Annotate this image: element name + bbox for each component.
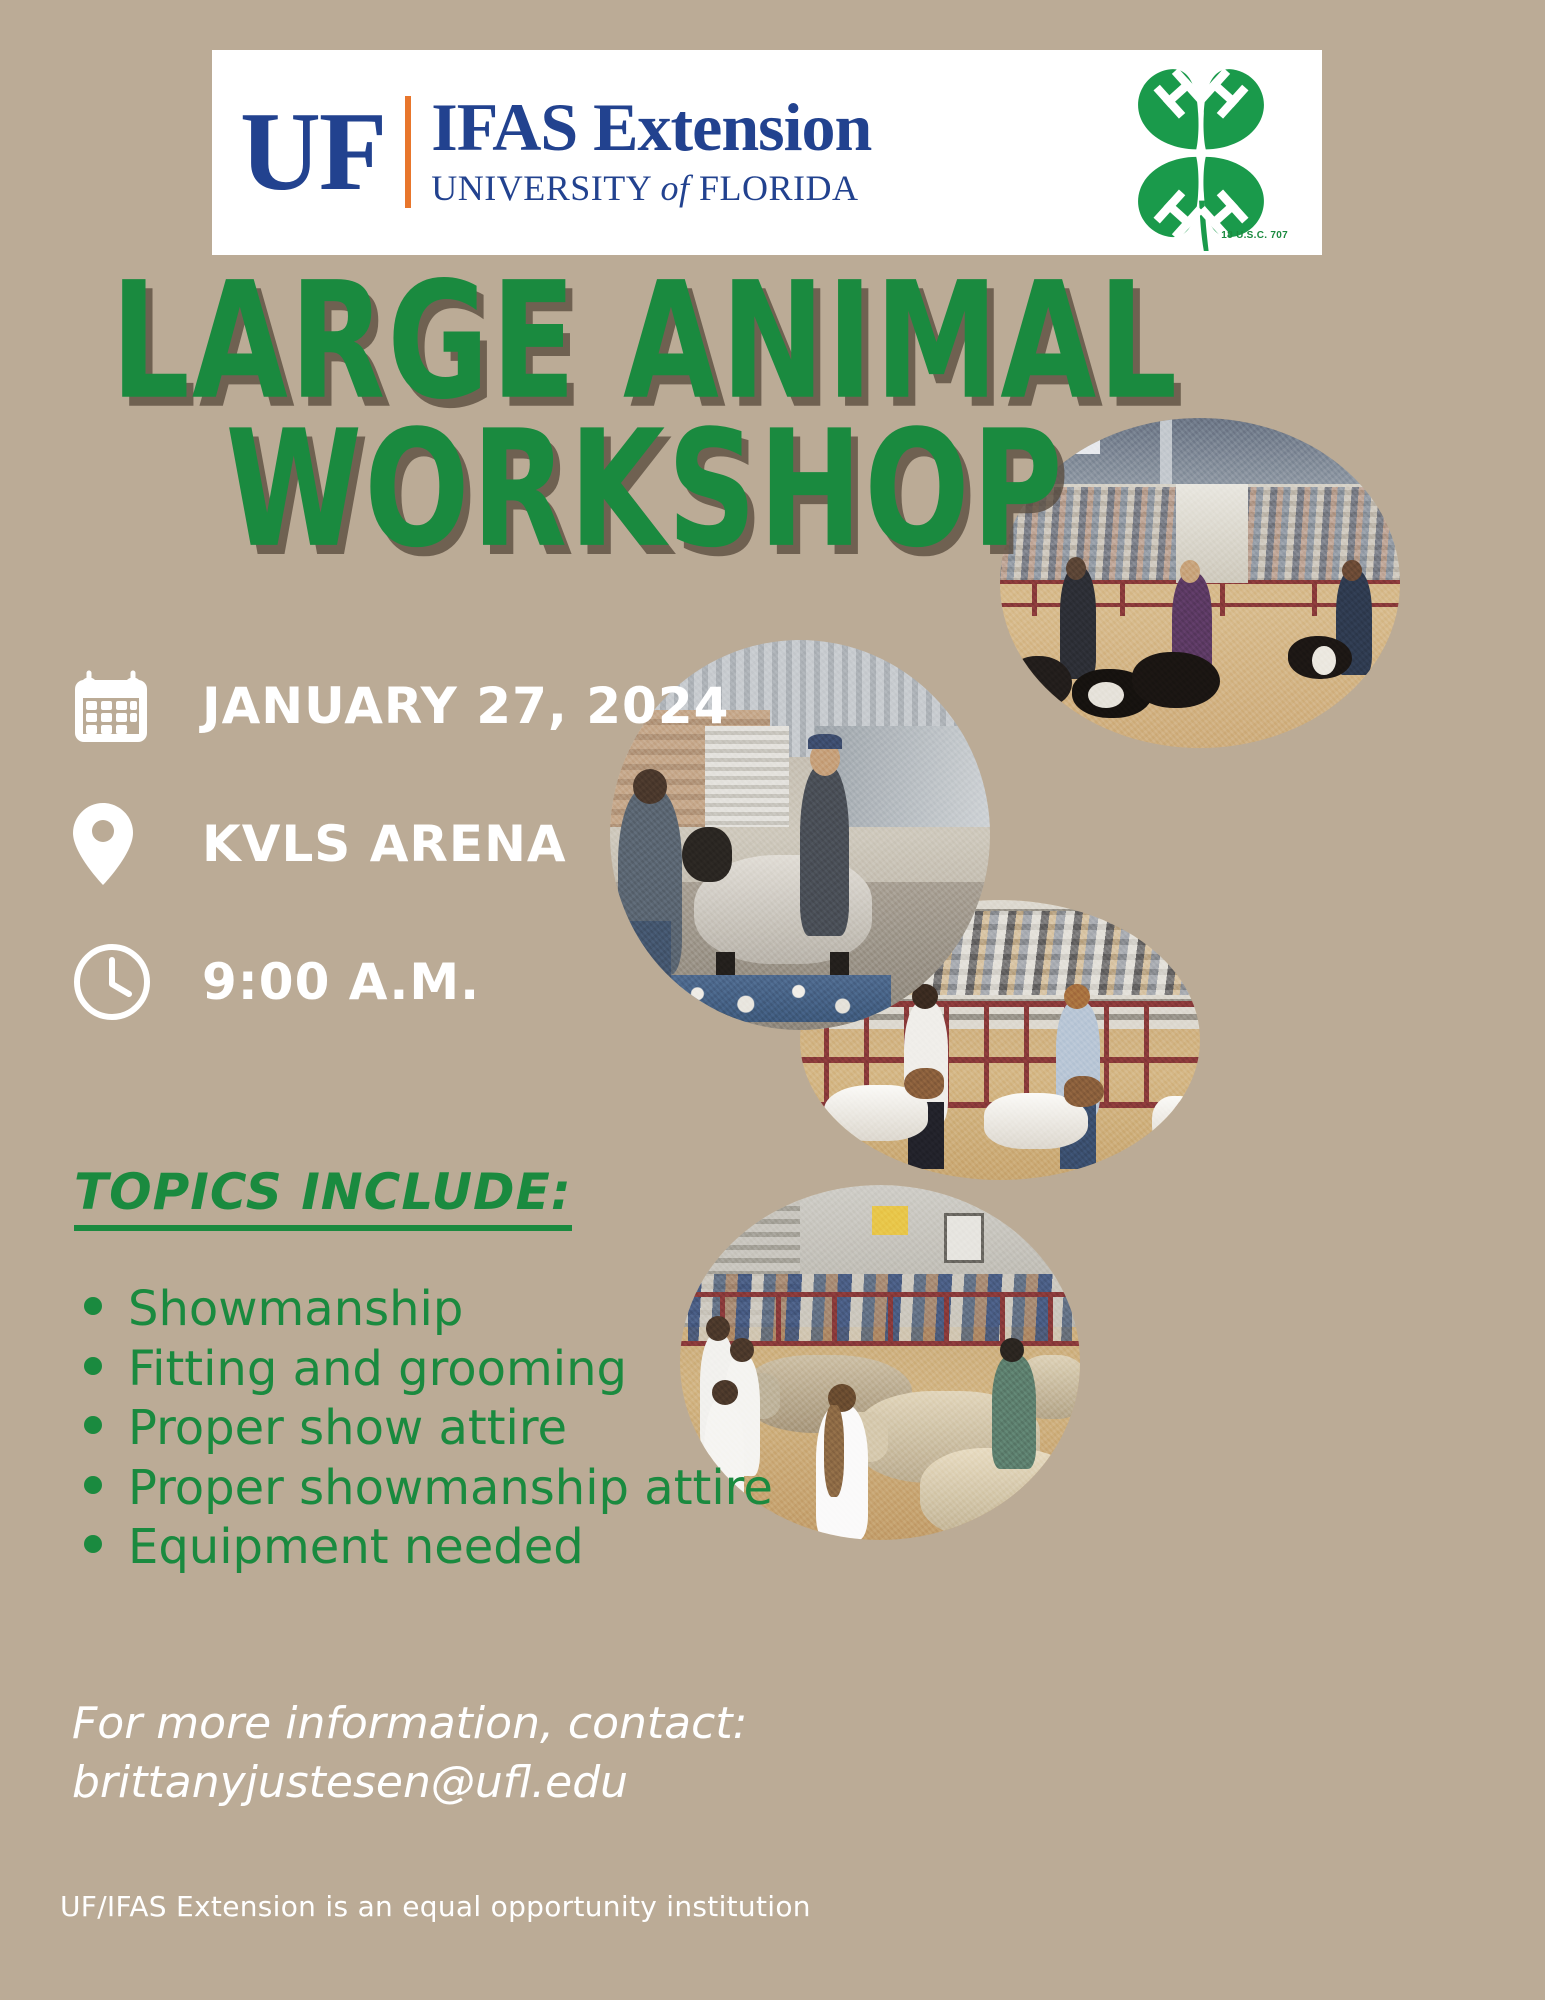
event-date-text: JANUARY 27, 2024	[202, 677, 729, 735]
event-date-row: JANUARY 27, 2024	[72, 650, 729, 762]
uof-pre: UNIVERSITY	[431, 168, 660, 208]
event-time-row: 9:00 A.M.	[72, 926, 729, 1038]
list-item: Equipment needed	[74, 1518, 773, 1578]
list-item: Proper showmanship attire	[74, 1459, 773, 1519]
event-time-text: 9:00 A.M.	[202, 953, 480, 1011]
title-line-2: WORKSHOP	[0, 416, 1290, 564]
page-title: LARGE ANIMAL WORKSHOP	[0, 268, 1290, 565]
topic-label: Fitting and grooming	[128, 1340, 627, 1400]
logo-divider-rule	[405, 96, 411, 208]
bullet-icon	[84, 1357, 102, 1375]
uf-wordmark: IFAS Extension UNIVERSITY of FLORIDA	[431, 93, 871, 212]
event-location-row: KVLS ARENA	[72, 788, 729, 900]
bullet-icon	[84, 1476, 102, 1494]
topic-label: Showmanship	[128, 1280, 463, 1340]
topics-heading: TOPICS INCLUDE:	[74, 1163, 572, 1231]
equal-opportunity-statement: UF/IFAS Extension is an equal opportunit…	[60, 1890, 811, 1923]
ifas-extension-text: IFAS Extension	[431, 93, 871, 161]
event-details: JANUARY 27, 2024 KVLS ARENA 9:00 A.M.	[72, 650, 729, 1064]
contact-email[interactable]: brittanyjustesen@ufl.edu	[72, 1753, 747, 1812]
university-of-florida-text: UNIVERSITY of FLORIDA	[431, 165, 871, 212]
list-item: Fitting and grooming	[74, 1340, 773, 1400]
contact-prompt: For more information, contact:	[72, 1694, 747, 1753]
uf-monogram: UF	[240, 105, 385, 199]
bullet-icon	[84, 1416, 102, 1434]
calendar-icon	[72, 666, 172, 746]
bullet-icon	[84, 1535, 102, 1553]
uof-of: of	[660, 168, 689, 208]
topic-label: Proper show attire	[128, 1399, 567, 1459]
four-h-clover-icon	[1106, 58, 1296, 253]
contact-block: For more information, contact: brittanyj…	[72, 1694, 747, 1813]
location-pin-icon	[72, 801, 172, 887]
clock-icon	[72, 942, 172, 1022]
topic-label: Equipment needed	[128, 1518, 584, 1578]
uf-lockup: UF IFAS Extension UNIVERSITY of FLORIDA	[240, 93, 871, 212]
uof-post: FLORIDA	[689, 168, 858, 208]
bullet-icon	[84, 1297, 102, 1315]
list-item: Showmanship	[74, 1280, 773, 1340]
topic-label: Proper showmanship attire	[128, 1459, 773, 1519]
topics-list: Showmanship Fitting and grooming Proper …	[74, 1280, 773, 1578]
uf-ifas-logo-bar: UF IFAS Extension UNIVERSITY of FLORIDA	[212, 50, 1322, 255]
event-location-text: KVLS ARENA	[202, 815, 567, 873]
list-item: Proper show attire	[74, 1399, 773, 1459]
clover-legal-text: 18 U.S.C. 707	[1221, 230, 1288, 241]
